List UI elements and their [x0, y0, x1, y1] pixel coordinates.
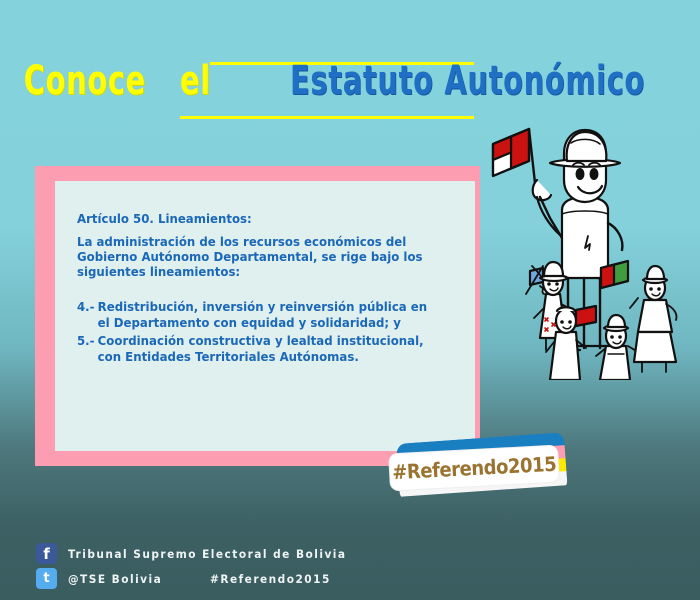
footer-hashtag: #Referendo2015 — [210, 572, 331, 586]
facebook-label: Tribunal Supremo Electoral de Bolivia — [68, 547, 347, 561]
list-item-number: 5.- — [77, 333, 98, 349]
facebook-icon[interactable]: f — [36, 543, 57, 564]
title-part-el: el — [180, 58, 211, 104]
title-part-conoce: Conoce — [24, 58, 146, 104]
title-underline-bottom — [180, 116, 474, 119]
article-paragraph: La administración de los recursos económ… — [77, 234, 434, 279]
footer-facebook-row[interactable]: f Tribunal Supremo Electoral de Bolivia — [36, 543, 371, 564]
footer-twitter-row[interactable]: t @TSE Bolivia #Referendo2015 — [36, 568, 342, 589]
footer: f Tribunal Supremo Electoral de Bolivia … — [0, 534, 700, 600]
content-card: Artículo 50. Lineamientos: La administra… — [55, 181, 475, 451]
badge-label: #Referendo2015 — [391, 452, 556, 485]
title-part-estatuto-autonomico: Estatuto Autonómico — [290, 58, 645, 104]
article-heading: Artículo 50. Lineamientos: — [77, 211, 434, 226]
poster-canvas: Conoce el Estatuto Autonómico de Potosí — [0, 0, 700, 600]
hashtag-badge: #Referendo2015 — [390, 438, 570, 500]
page-title: Conoce el Estatuto Autonómico de Potosí — [0, 58, 700, 118]
lineamientos-list: 4.-Redistribución, inversión y reinversi… — [77, 299, 457, 365]
cartoon-crowd-illustration — [488, 118, 693, 380]
list-item-text: Coordinación constructiva y lealtad inst… — [98, 333, 424, 364]
twitter-icon[interactable]: t — [36, 568, 57, 589]
list-item: 5.-Coordinación constructiva y lealtad i… — [77, 333, 434, 365]
list-item-text: Redistribución, inversión y reinversión … — [98, 299, 427, 330]
list-item: 4.-Redistribución, inversión y reinversi… — [77, 299, 434, 331]
twitter-label: @TSE Bolivia — [68, 572, 162, 586]
list-item-number: 4.- — [77, 299, 98, 315]
